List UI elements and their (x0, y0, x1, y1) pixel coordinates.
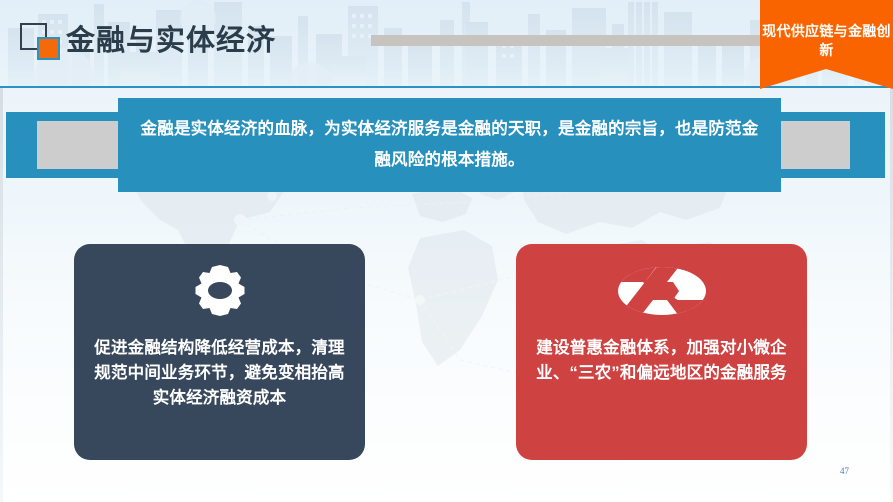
card-left-text: 促进金融结构降低经营成本，清理规范中间业务环节，避免变相抬高实体经济融资成本 (74, 322, 365, 411)
content-card-right[interactable]: 建设普惠金融体系，加强对小微企业、“三农”和偏远地区的金融服务 (516, 244, 807, 460)
logo-orange-square (37, 37, 60, 60)
card-right-text: 建设普惠金融体系，加强对小微企业、“三农”和偏远地区的金融服务 (516, 322, 807, 386)
page-number: 47 (840, 466, 849, 476)
brand-logo (20, 23, 64, 60)
content-card-left[interactable]: 促进金融结构降低经营成本，清理规范中间业务环节，避免变相抬高实体经济融资成本 (74, 244, 365, 460)
quote-callout: 金融是实体经济的血脉，为实体经济服务是金融的天职，是金融的宗旨，也是防范金融风险… (118, 98, 781, 192)
aperture-shutter-icon (615, 260, 709, 322)
ribbon-label: 现代供应链与金融创新 (760, 22, 893, 60)
quote-text: 金融是实体经济的血脉，为实体经济服务是金融的天职，是金融的宗旨，也是防范金融风险… (118, 114, 781, 176)
gear-icon (181, 260, 259, 322)
slide-canvas: 金融与实体经济 现代供应链与金融创新 金融是实体经济的血脉，为实体经济服务是金融… (0, 0, 893, 502)
page-title: 金融与实体经济 (66, 17, 276, 59)
section-ribbon: 现代供应链与金融创新 (760, 0, 893, 89)
